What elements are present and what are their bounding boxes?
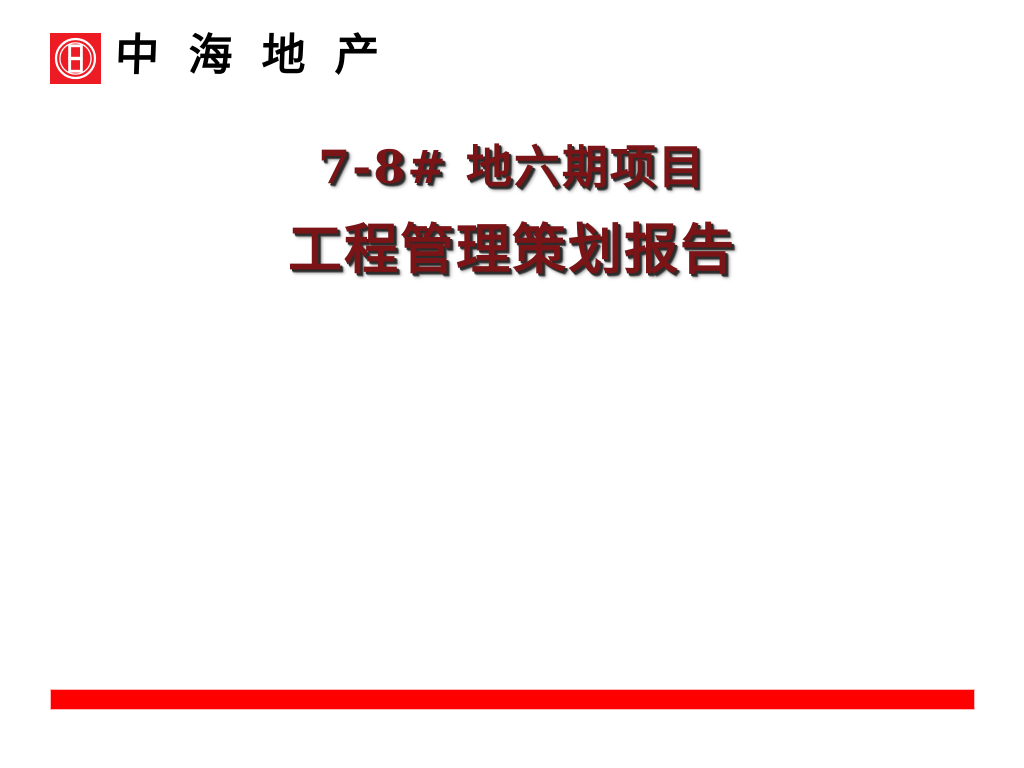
slide-title-block: 7-8# 地六期项目 工程管理策划报告 [0, 138, 1024, 282]
company-logo-icon [50, 33, 101, 84]
brand-logo: 中 海 地 产 [50, 30, 386, 86]
title-slide: 中 海 地 产 7-8# 地六期项目 工程管理策划报告 [0, 0, 1024, 768]
brand-wordmark: 中 海 地 产 [114, 34, 387, 82]
slide-title-line-2: 工程管理策划报告 [0, 216, 1024, 282]
bottom-accent-bar [51, 690, 974, 709]
slide-title-line-1: 7-8# 地六期项目 [0, 138, 1024, 196]
